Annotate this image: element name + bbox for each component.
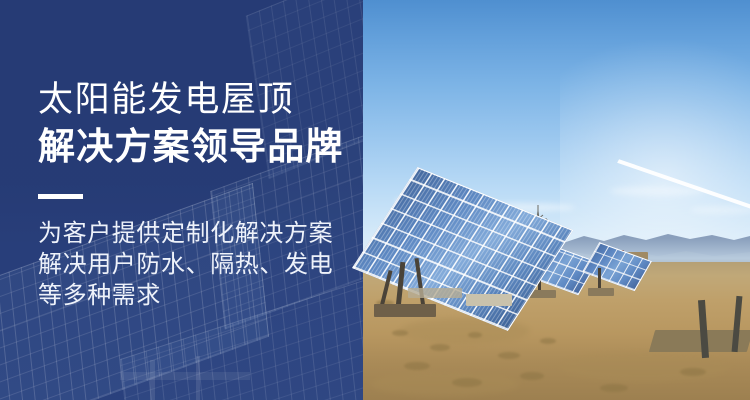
headline-line-1: 太阳能发电屋顶 xyxy=(38,80,294,120)
scrub-grass xyxy=(452,378,482,387)
scrub-grass xyxy=(520,372,544,380)
concrete-block xyxy=(466,294,512,306)
scrub-grass xyxy=(498,352,520,359)
scrub-grass xyxy=(392,330,408,336)
scrub-grass xyxy=(430,344,450,351)
scrub-grass xyxy=(600,384,628,392)
subtitle-line-3: 等多种需求 xyxy=(38,280,333,311)
subtitle-line-2: 解决用户防水、隔热、发电 xyxy=(38,249,333,280)
concrete-block xyxy=(408,288,462,298)
scrub-grass xyxy=(468,332,482,338)
banner-copy: 太阳能发电屋顶 解决方案领导品牌 为客户提供定制化解决方案 解决用户防水、隔热、… xyxy=(38,0,358,400)
solar-banner: 太阳能发电屋顶 解决方案领导品牌 为客户提供定制化解决方案 解决用户防水、隔热、… xyxy=(0,0,750,400)
scrub-grass xyxy=(404,362,430,370)
subtitle-line-1: 为客户提供定制化解决方案 xyxy=(38,218,333,249)
subtitle-block: 为客户提供定制化解决方案 解决用户防水、隔热、发电 等多种需求 xyxy=(38,218,333,311)
panel-base xyxy=(374,304,436,317)
headline-line-2: 解决方案领导品牌 xyxy=(38,126,344,168)
ground-patch xyxy=(370,372,520,396)
divider-rule xyxy=(38,194,83,199)
